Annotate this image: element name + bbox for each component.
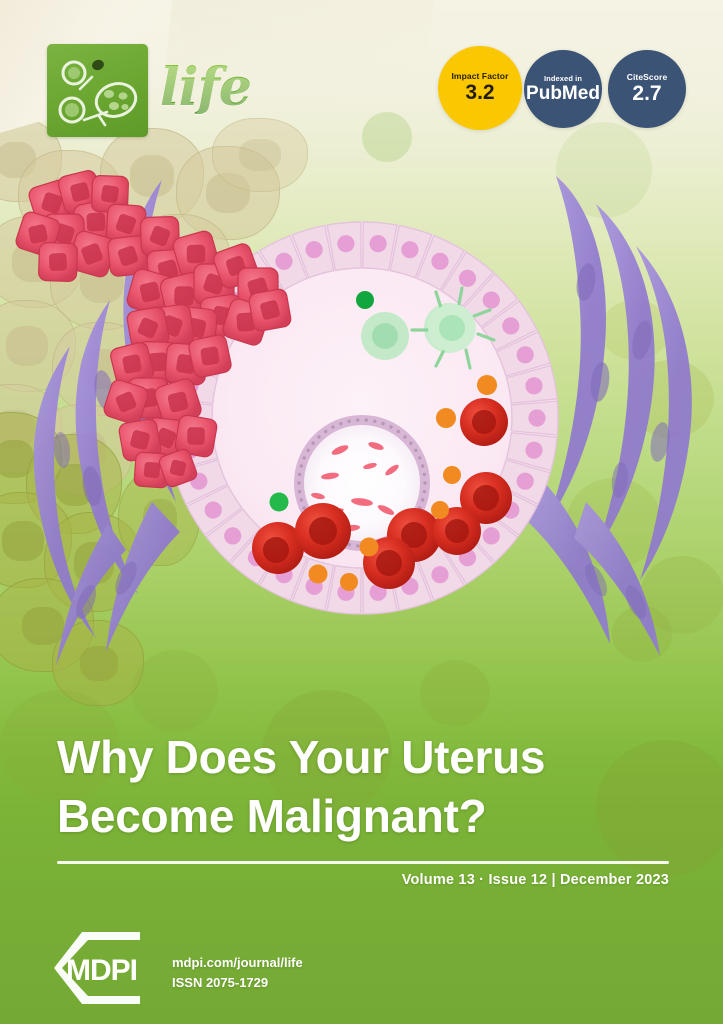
epithelial-cell-nucleus [517,346,534,363]
journal-wordmark: life [160,62,251,114]
lumen-border-dot [303,456,306,459]
title-divider [57,861,669,864]
svg-text:MDPI: MDPI [66,954,137,987]
epithelial-cell-nucleus [370,235,387,252]
epithelial-cell-nucleus [337,235,354,252]
epithelial-cell-nucleus [459,270,476,287]
lumen-border-dot [423,473,426,476]
lumen-border-dot [348,420,351,423]
badge-citescore-value: 2.7 [632,83,661,104]
journal-logo [47,44,148,137]
epithelial-cell-nucleus [306,241,323,258]
publisher-info: mdpi.com/journal/life ISSN 2075-1729 [172,953,303,993]
lumen-border-dot [381,422,384,425]
badge-pubmed-label: Indexed in [544,75,582,83]
lumen-border-dot [298,473,301,476]
lumen-border-dot [421,464,424,467]
cover-story-title-line-1: Why Does Your Uterus [57,728,677,787]
epithelial-cell-nucleus [517,473,534,490]
epithelial-cell-nucleus [401,241,418,258]
epithelial-cell-nucleus [483,527,500,544]
epithelial-cell-nucleus [224,527,241,544]
life-cell-logo-icon [47,44,148,137]
cover-story-title-line-2: Become Malignant? [57,787,677,846]
lumen-border-dot [365,418,368,421]
cover-illustration [0,150,723,690]
lumen-border-dot [423,490,426,493]
tumor-cell [38,242,77,281]
epithelial-cell-nucleus [483,292,500,309]
mdpi-hexagon-icon: MDPI [52,930,156,1006]
lumen-border-dot [409,442,412,445]
mdpi-logo: MDPI [52,930,156,1006]
lumen-border-dot [298,490,301,493]
epithelial-cell-nucleus [431,566,448,583]
lumen-border-dot [307,449,310,452]
journal-issn: ISSN 2075-1729 [172,973,303,993]
lumen-border-dot [300,498,303,501]
lumen-border-dot [300,464,303,467]
badge-pubmed-value: PubMed [526,84,600,103]
epithelial-cell-nucleus [525,377,542,394]
epithelial-cell-nucleus [431,253,448,270]
badge-citescore: CiteScore 2.7 [608,50,686,128]
lumen-border-dot [356,418,359,421]
green-marker-dot [356,291,374,309]
cover-story-title: Why Does Your Uterus Become Malignant? [57,728,677,846]
lumen-border-dot [414,449,417,452]
lumen-border-dot [339,422,342,425]
tumor-cell [248,288,292,332]
lumen-border-dot [297,481,300,484]
epithelial-cell-nucleus [205,502,222,519]
badge-impact-factor-value: 3.2 [465,82,494,103]
badge-impact-factor: Impact Factor 3.2 [438,46,522,130]
journal-url: mdpi.com/journal/life [172,953,303,973]
epithelial-cell-nucleus [275,253,292,270]
tumor-cell [187,333,232,378]
badge-impact-factor-label: Impact Factor [451,72,508,81]
journal-cover: life Impact Factor 3.2 Indexed in PubMed… [0,0,723,1024]
lumen-border-dot [397,430,400,433]
issue-line: Volume 13 · Issue 12 | December 2023 [57,872,669,888]
epithelial-cell-nucleus [528,409,545,426]
lumen-border-dot [373,420,376,423]
lumen-border-dot [389,425,392,428]
lumen-border-dot [324,430,327,433]
lumen-border-dot [317,435,320,438]
badge-pubmed: Indexed in PubMed [524,50,602,128]
lumen-border-dot [418,456,421,459]
epithelial-cell-nucleus [502,317,519,334]
green-marker-dot [270,493,289,512]
lumen-border-dot [421,498,424,501]
lumen-border-dot [403,435,406,438]
lumen-border-dot [311,442,314,445]
lumen-border-dot [331,425,334,428]
epithelial-cell-nucleus [525,442,542,459]
lumen-border-dot [356,544,359,547]
badge-citescore-label: CiteScore [627,73,668,82]
lumen-border-dot [423,481,426,484]
